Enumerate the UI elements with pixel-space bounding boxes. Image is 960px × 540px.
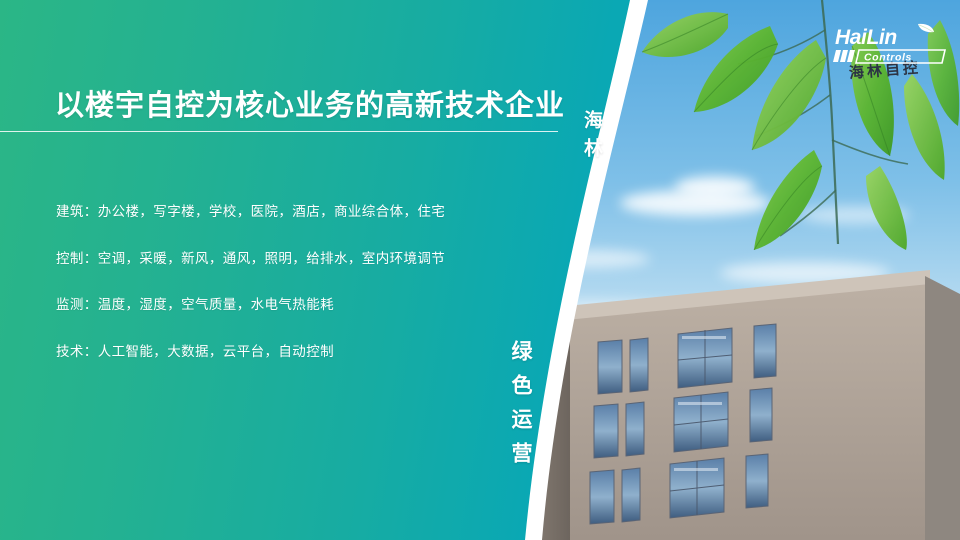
svg-text:Controls: Controls <box>864 52 912 64</box>
title-underline-rule <box>0 131 558 132</box>
list-item: 建筑：办公楼，写字楼，学校，医院，酒店，商业综合体，住宅 <box>56 205 486 219</box>
vertical-tagline-label: 绿色运营 <box>505 340 535 476</box>
hailin-controls-logo-icon: HaiLin Controls <box>832 20 952 68</box>
slide-root: 海林自控 以楼宇自控为核心业务的高新技术企业 建筑：办公楼，写字楼，学校，医院，… <box>0 0 960 540</box>
brand-logo[interactable]: HaiLin Controls <box>832 20 952 68</box>
list-item: 技术：人工智能，大数据，云平台，自动控制 <box>56 345 486 359</box>
svg-text:HaiLin: HaiLin <box>835 26 897 49</box>
list-item: 监测：温度，湿度，空气质量，水电气热能耗 <box>56 298 486 312</box>
list-item: 控制：空调，采暖，新风，通风，照明，给排水，室内环境调节 <box>56 252 486 266</box>
page-title: 以楼宇自控为核心业务的高新技术企业 <box>55 82 565 124</box>
bullet-list: 建筑：办公楼，写字楼，学校，医院，酒店，商业综合体，住宅 控制：空调，采暖，新风… <box>56 205 486 391</box>
vertical-brand-label: 海林 <box>578 110 605 166</box>
